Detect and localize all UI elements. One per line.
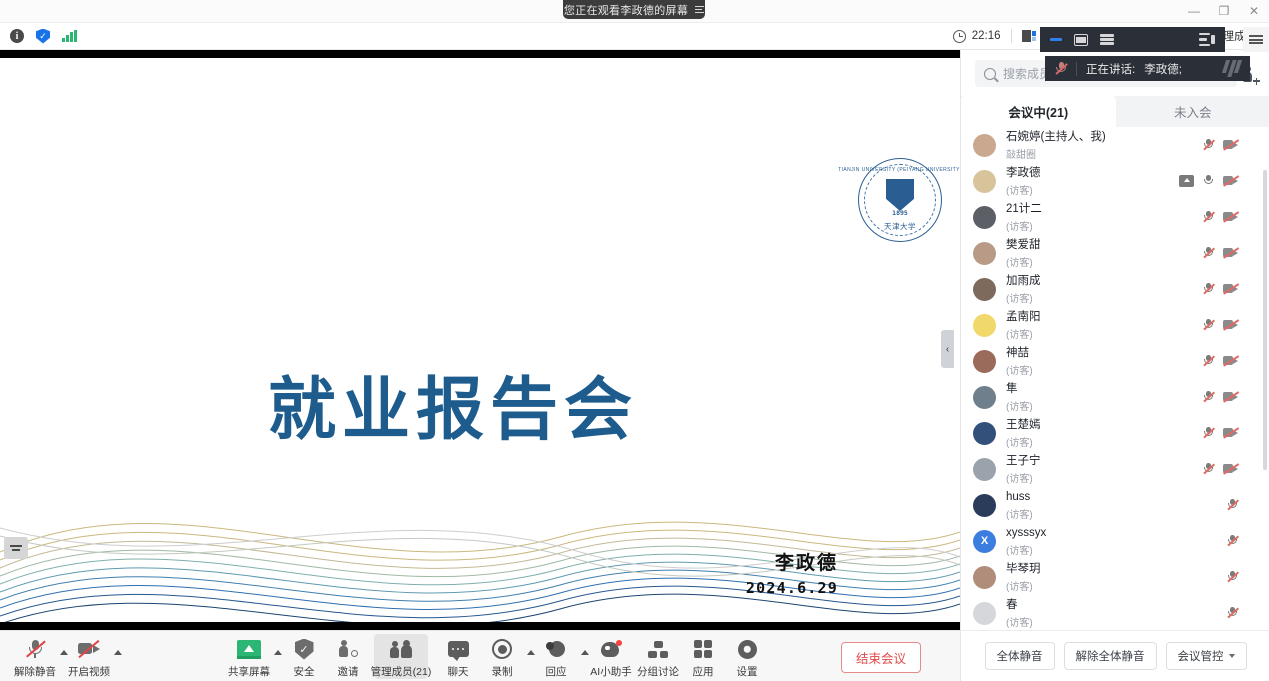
participant-row[interactable]: 加雨成(访客) — [961, 271, 1269, 307]
participant-name: xysssyx — [1006, 527, 1046, 539]
topbar-left-icons: i ✓ — [0, 29, 77, 44]
camera-off-icon[interactable] — [1223, 176, 1238, 187]
seal-year: 1895 — [892, 209, 908, 217]
participants-footer: 全体静音 解除全体静音 会议管控 — [961, 630, 1269, 681]
participant-row[interactable]: 石婉婷(主持人、我)敲甜圈 — [961, 127, 1269, 163]
camera-off-icon[interactable] — [1223, 356, 1238, 367]
microphone-on-icon[interactable] — [1203, 174, 1214, 188]
participant-actions — [1203, 138, 1260, 152]
reactions-icon — [546, 640, 567, 659]
participant-actions — [1203, 390, 1260, 404]
microphone-muted-icon[interactable] — [1227, 498, 1238, 512]
participant-info: 春(访客) — [1006, 595, 1033, 632]
invite-user-icon — [338, 639, 358, 659]
control-glyph — [448, 637, 469, 661]
seal-english-text: TIANJIN UNIVERSITY (PEIYANG UNIVERSITY) — [838, 167, 960, 173]
microphone-muted-icon — [26, 639, 44, 659]
participant-info: 毕琴玥(访客) — [1006, 559, 1041, 596]
control-glyph — [237, 637, 261, 661]
camera-off-icon[interactable] — [1223, 140, 1238, 151]
participant-name: 21计二 — [1006, 203, 1042, 215]
participant-name: 神喆 — [1006, 347, 1029, 359]
participant-info: 王子宁(访客) — [1006, 451, 1041, 488]
participant-info: 加雨成(访客) — [1006, 271, 1041, 308]
control-glyph — [390, 637, 412, 661]
participant-role: (访客) — [1006, 222, 1033, 233]
active-speaker-prefix: 正在讲话: — [1086, 61, 1135, 77]
control-label: 分组讨论 — [637, 664, 679, 679]
participant-row[interactable]: 隼(访客) — [961, 379, 1269, 415]
microphone-muted-icon[interactable] — [1203, 282, 1214, 296]
participant-role: (访客) — [1006, 546, 1033, 557]
camera-off-icon[interactable] — [1223, 248, 1238, 259]
clock-icon — [953, 30, 966, 43]
control-glyph: ✓ — [295, 637, 314, 661]
dock-panel-icon[interactable] — [1199, 33, 1215, 46]
microphone-muted-icon — [1055, 62, 1067, 76]
annotation-toolbar-icon[interactable] — [4, 537, 28, 559]
participant-name: 加雨成 — [1006, 275, 1041, 287]
control-label: 开启视频 — [68, 664, 110, 679]
control-record[interactable]: 录制 — [475, 634, 529, 679]
participant-actions — [1227, 534, 1260, 548]
control-share-screen[interactable]: 共享屏幕 — [222, 634, 276, 679]
participant-row[interactable]: Xxysssyx(访客) — [961, 523, 1269, 559]
participant-role: (访客) — [1006, 258, 1033, 269]
apps-grid-icon — [694, 640, 712, 658]
avatar — [973, 386, 996, 409]
end-meeting-button[interactable]: 结束会议 — [841, 642, 921, 673]
meeting-app-window: — ❐ ✕ 您正在观看李政德的屏幕 i ✓ 22:16 演讲者视图 — [0, 0, 1269, 681]
participant-role: (访客) — [1006, 186, 1033, 197]
security-shield-icon[interactable]: ✓ — [36, 29, 50, 44]
window-minimize-button[interactable]: — — [1179, 0, 1209, 22]
control-glyph — [694, 637, 712, 661]
avatar — [973, 170, 996, 193]
camera-off-icon[interactable] — [1223, 464, 1238, 475]
avatar — [973, 278, 996, 301]
participant-name: 樊爱甜 — [1006, 239, 1041, 251]
camera-off-icon[interactable] — [1223, 428, 1238, 439]
chat-bubble-icon — [448, 641, 469, 657]
participant-info: 樊爱甜(访客) — [1006, 235, 1041, 272]
meeting-clock: 22:16 — [943, 26, 1011, 46]
shield-icon: ✓ — [295, 639, 314, 660]
microphone-muted-icon[interactable] — [1203, 462, 1214, 476]
network-signal-icon[interactable] — [62, 30, 77, 42]
participant-actions — [1203, 246, 1260, 260]
avatar: X — [973, 530, 996, 553]
participant-actions — [1203, 426, 1260, 440]
meeting-control-bar: 解除静音开启视频共享屏幕✓安全邀请管理成员(21)聊天录制回应AI小助手分组讨论… — [0, 630, 960, 681]
share-screen-icon — [237, 640, 261, 659]
control-label: 回应 — [546, 664, 567, 679]
hamburger-menu-icon[interactable] — [1243, 27, 1269, 52]
screen-share-indicator-text: 您正在观看李政德的屏幕 — [564, 2, 688, 18]
info-icon[interactable]: i — [10, 29, 24, 43]
control-label: 聊天 — [448, 664, 469, 679]
university-seal: TIANJIN UNIVERSITY (PEIYANG UNIVERSITY) … — [858, 158, 942, 242]
microphone-muted-icon[interactable] — [1203, 210, 1214, 224]
tab-not-joined[interactable]: 未入会 — [1116, 96, 1269, 127]
participant-name: 李政德 — [1006, 167, 1041, 179]
participant-row[interactable]: 春(访客) — [961, 595, 1269, 631]
participant-name: 王楚嫣 — [1006, 419, 1041, 431]
meeting-elapsed-time: 22:16 — [972, 30, 1001, 42]
control-ai-assistant[interactable]: AI小助手 — [584, 634, 638, 679]
participant-info: 神喆(访客) — [1006, 343, 1033, 380]
participant-role: (访客) — [1006, 474, 1033, 485]
search-icon — [984, 68, 996, 80]
microphone-muted-icon[interactable] — [1203, 138, 1214, 152]
camera-off-icon[interactable] — [1223, 392, 1238, 403]
control-reactions[interactable]: 回应 — [529, 634, 583, 679]
participant-info: huss(访客) — [1006, 487, 1033, 524]
microphone-muted-icon[interactable] — [1227, 534, 1238, 548]
participant-role: 敲甜圈 — [1006, 150, 1036, 161]
participant-actions — [1203, 462, 1260, 476]
control-glyph — [338, 637, 358, 661]
active-speaker-toast: 正在讲话: 李政德; — [1045, 56, 1250, 81]
slide-author: 李政德 — [775, 548, 838, 575]
slide-title: 就业报告会 — [268, 354, 638, 453]
mute-all-button[interactable]: 全体静音 — [985, 642, 1055, 670]
control-glyph — [546, 637, 567, 661]
participant-role: (访客) — [1006, 438, 1033, 449]
control-label: AI小助手 — [590, 664, 631, 679]
window-close-button[interactable]: ✕ — [1239, 0, 1269, 22]
minimize-icon[interactable] — [1050, 38, 1062, 41]
unmute-all-button[interactable]: 解除全体静音 — [1064, 642, 1157, 670]
control-label: 共享屏幕 — [228, 664, 270, 679]
participant-name: 石婉婷(主持人、我) — [1006, 131, 1106, 143]
camera-off-icon[interactable] — [1223, 284, 1238, 295]
control-label: 设置 — [737, 664, 758, 679]
participant-actions — [1179, 174, 1260, 188]
presentation-slide: TIANJIN UNIVERSITY (PEIYANG UNIVERSITY) … — [0, 58, 960, 622]
participant-actions — [1203, 354, 1260, 368]
more-options-icon[interactable] — [695, 6, 704, 14]
microphone-muted-icon[interactable] — [1227, 606, 1238, 620]
participant-name: 王子宁 — [1006, 455, 1041, 467]
control-glyph — [738, 637, 757, 661]
record-icon — [492, 639, 512, 659]
participant-info: 隼(访客) — [1006, 379, 1033, 416]
participant-info: 王楚嫣(访客) — [1006, 415, 1041, 452]
avatar — [973, 422, 996, 445]
control-unmute[interactable]: 解除静音 — [8, 634, 62, 679]
audio-wave-icon — [1224, 60, 1240, 77]
control-label: 解除静音 — [14, 664, 56, 679]
control-glyph — [78, 637, 100, 661]
sharing-screen-icon — [1179, 175, 1194, 187]
microphone-muted-icon[interactable] — [1203, 318, 1214, 332]
avatar — [973, 494, 996, 517]
participant-actions — [1227, 570, 1260, 584]
participants-tabs: 会议中(21) 未入会 — [961, 96, 1269, 127]
microphone-muted-icon[interactable] — [1203, 390, 1214, 404]
participant-row[interactable]: 李政德(访客) — [961, 163, 1269, 199]
participant-actions — [1203, 210, 1260, 224]
participant-list-scrollbar[interactable] — [1263, 170, 1267, 470]
control-glyph — [26, 637, 44, 661]
microphone-muted-icon[interactable] — [1203, 246, 1214, 260]
participant-row[interactable]: 21计二(访客) — [961, 199, 1269, 235]
control-label: 安全 — [294, 664, 315, 679]
screen-share-indicator[interactable]: 您正在观看李政德的屏幕 — [563, 0, 705, 19]
avatar — [973, 602, 996, 625]
participant-info: xysssyx(访客) — [1006, 523, 1046, 560]
search-placeholder: 搜索成员 — [1003, 65, 1051, 82]
camera-off-icon — [78, 642, 100, 657]
control-settings[interactable]: 设置 — [720, 634, 774, 679]
participant-actions — [1227, 498, 1260, 512]
microphone-muted-icon[interactable] — [1203, 354, 1214, 368]
participants-icon — [390, 640, 412, 659]
participant-actions — [1227, 606, 1260, 620]
meeting-control-label: 会议管控 — [1178, 648, 1224, 664]
meeting-control-button[interactable]: 会议管控 — [1166, 642, 1247, 670]
participant-info: 21计二(访客) — [1006, 199, 1042, 236]
control-label: 管理成员(21) — [371, 664, 432, 679]
participant-role: (访客) — [1006, 330, 1033, 341]
control-label: 录制 — [492, 664, 513, 679]
tab-in-meeting[interactable]: 会议中(21) — [961, 96, 1116, 127]
participant-name: 春 — [1006, 599, 1018, 611]
microphone-muted-icon[interactable] — [1203, 426, 1214, 440]
shared-screen-stage[interactable]: TIANJIN UNIVERSITY (PEIYANG UNIVERSITY) … — [0, 50, 960, 630]
camera-off-icon[interactable] — [1223, 212, 1238, 223]
avatar — [973, 314, 996, 337]
avatar — [973, 458, 996, 481]
participant-name: 隼 — [1006, 383, 1018, 395]
control-start-video[interactable]: 开启视频 — [62, 634, 116, 679]
active-speaker-name: 李政德; — [1144, 61, 1182, 77]
control-invite[interactable]: 邀请 — [321, 634, 375, 679]
avatar — [973, 134, 996, 157]
participant-name: 孟南阳 — [1006, 311, 1041, 323]
participant-role: (访客) — [1006, 294, 1033, 305]
participant-row[interactable]: 毕琴玥(访客) — [961, 559, 1269, 595]
control-participants[interactable]: 管理成员(21) — [374, 634, 428, 679]
restore-window-icon[interactable] — [1074, 34, 1088, 46]
participant-row[interactable]: 孟南阳(访客) — [961, 307, 1269, 343]
control-glyph — [648, 637, 668, 661]
participant-row[interactable]: 神喆(访客) — [961, 343, 1269, 379]
participant-info: 石婉婷(主持人、我)敲甜圈 — [1006, 127, 1106, 163]
control-glyph — [492, 637, 512, 661]
participants-panel: 搜索成员 会议中(21) 未入会 石婉婷(主持人、我)敲甜圈李政德(访客)21计… — [960, 50, 1269, 681]
seal-chinese-text: 天津大学 — [884, 221, 916, 232]
list-view-icon[interactable] — [1100, 34, 1114, 45]
slide-date: 2024.6.29 — [746, 579, 838, 597]
gear-icon — [738, 640, 757, 659]
participant-actions — [1203, 282, 1260, 296]
participant-row[interactable]: 樊爱甜(访客) — [961, 235, 1269, 271]
participant-actions — [1203, 318, 1260, 332]
participant-name: 毕琴玥 — [1006, 563, 1041, 575]
participant-role: (访客) — [1006, 366, 1033, 377]
control-label: 应用 — [693, 664, 714, 679]
participant-role: (访客) — [1006, 582, 1033, 593]
floating-window-controls — [1040, 27, 1225, 52]
avatar — [973, 350, 996, 373]
collapse-panel-handle[interactable]: ‹ — [941, 330, 954, 368]
chevron-down-icon — [1229, 654, 1235, 658]
participant-role: (访客) — [1006, 618, 1033, 629]
participant-info: 李政德(访客) — [1006, 163, 1041, 200]
camera-off-icon[interactable] — [1223, 320, 1238, 331]
control-start-video-chevron-up-icon[interactable] — [114, 650, 122, 655]
participant-row[interactable]: huss(访客) — [961, 487, 1269, 523]
participant-info: 孟南阳(访客) — [1006, 307, 1041, 344]
participant-list[interactable]: 石婉婷(主持人、我)敲甜圈李政德(访客)21计二(访客)樊爱甜(访客)加雨成(访… — [961, 127, 1269, 680]
avatar — [973, 242, 996, 265]
window-maximize-button[interactable]: ❐ — [1209, 0, 1239, 22]
divider — [1076, 62, 1077, 76]
participant-role: (访客) — [1006, 402, 1033, 413]
control-label: 邀请 — [338, 664, 359, 679]
participant-role: (访客) — [1006, 510, 1033, 521]
control-glyph — [600, 637, 622, 661]
participant-name: huss — [1006, 491, 1030, 503]
ai-assistant-icon — [600, 640, 622, 659]
microphone-muted-icon[interactable] — [1227, 570, 1238, 584]
avatar — [973, 566, 996, 589]
breakout-rooms-icon — [648, 641, 668, 658]
participant-row[interactable]: 王子宁(访客) — [961, 451, 1269, 487]
participant-row[interactable]: 王楚嫣(访客) — [961, 415, 1269, 451]
speaker-view-icon — [1022, 30, 1036, 42]
avatar — [973, 206, 996, 229]
